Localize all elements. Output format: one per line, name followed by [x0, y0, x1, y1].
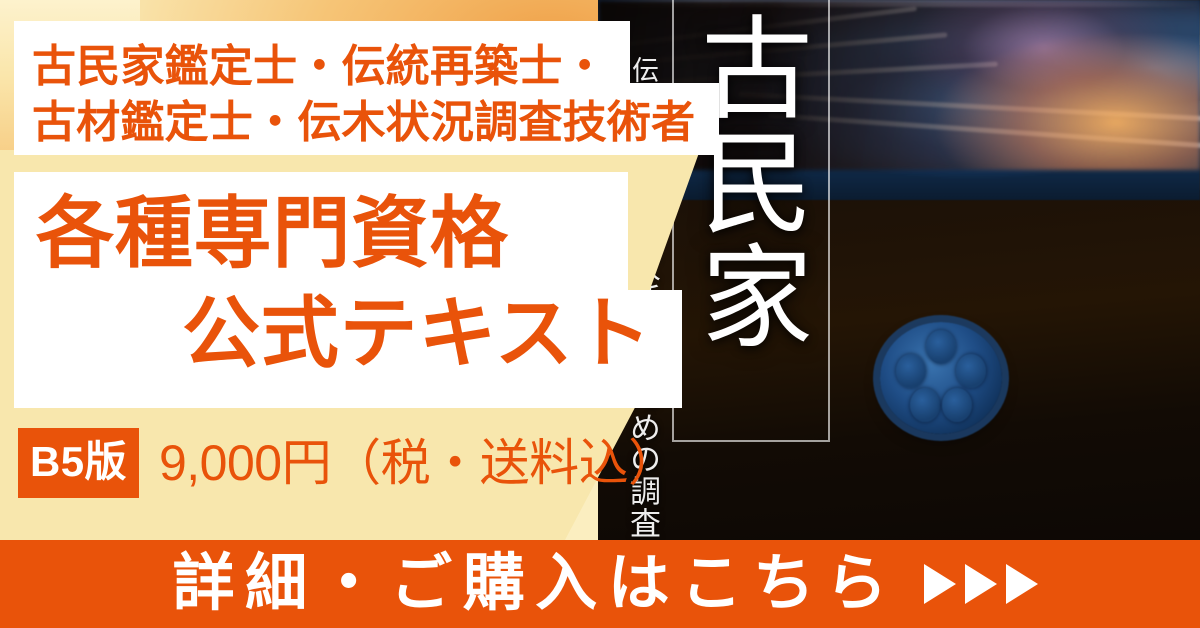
price-row: B5版 9,000円（税・送料込）: [18, 428, 678, 498]
promo-banner: 古民家 伝統構法 古民家活用のための調査と再生の 古民家鑑定士・伝統再築士・ 古…: [0, 0, 1200, 628]
headline-panel: 各種専門資格 公式テキスト: [14, 172, 682, 408]
qualifications-panel: 古民家鑑定士・伝統再築士・ 古材鑑定士・伝木状況調査技術者: [14, 21, 719, 155]
cta-label: 詳細・ご購入はこちら: [162, 553, 898, 615]
triple-right-arrow-icon: [924, 564, 1038, 604]
headline-line-2: 公式テキスト: [182, 294, 652, 372]
cta-bar[interactable]: 詳細・ご購入はこちら: [0, 540, 1200, 628]
cover-title: 古民家: [692, 10, 812, 353]
headline-line-1: 各種専門資格: [36, 194, 509, 272]
format-badge: B5版: [18, 428, 139, 498]
qualifications-line-2: 古材鑑定士・伝木状況調査技術者: [32, 86, 695, 150]
cover-blue-medallion: [880, 322, 1002, 434]
price-amount: 9,000円（税・送料込）: [159, 438, 678, 488]
book-cover-photo: 古民家 伝統構法 古民家活用のための調査と再生の: [598, 0, 1200, 540]
qualifications-line-1: 古民家鑑定士・伝統再築士・: [32, 30, 607, 94]
